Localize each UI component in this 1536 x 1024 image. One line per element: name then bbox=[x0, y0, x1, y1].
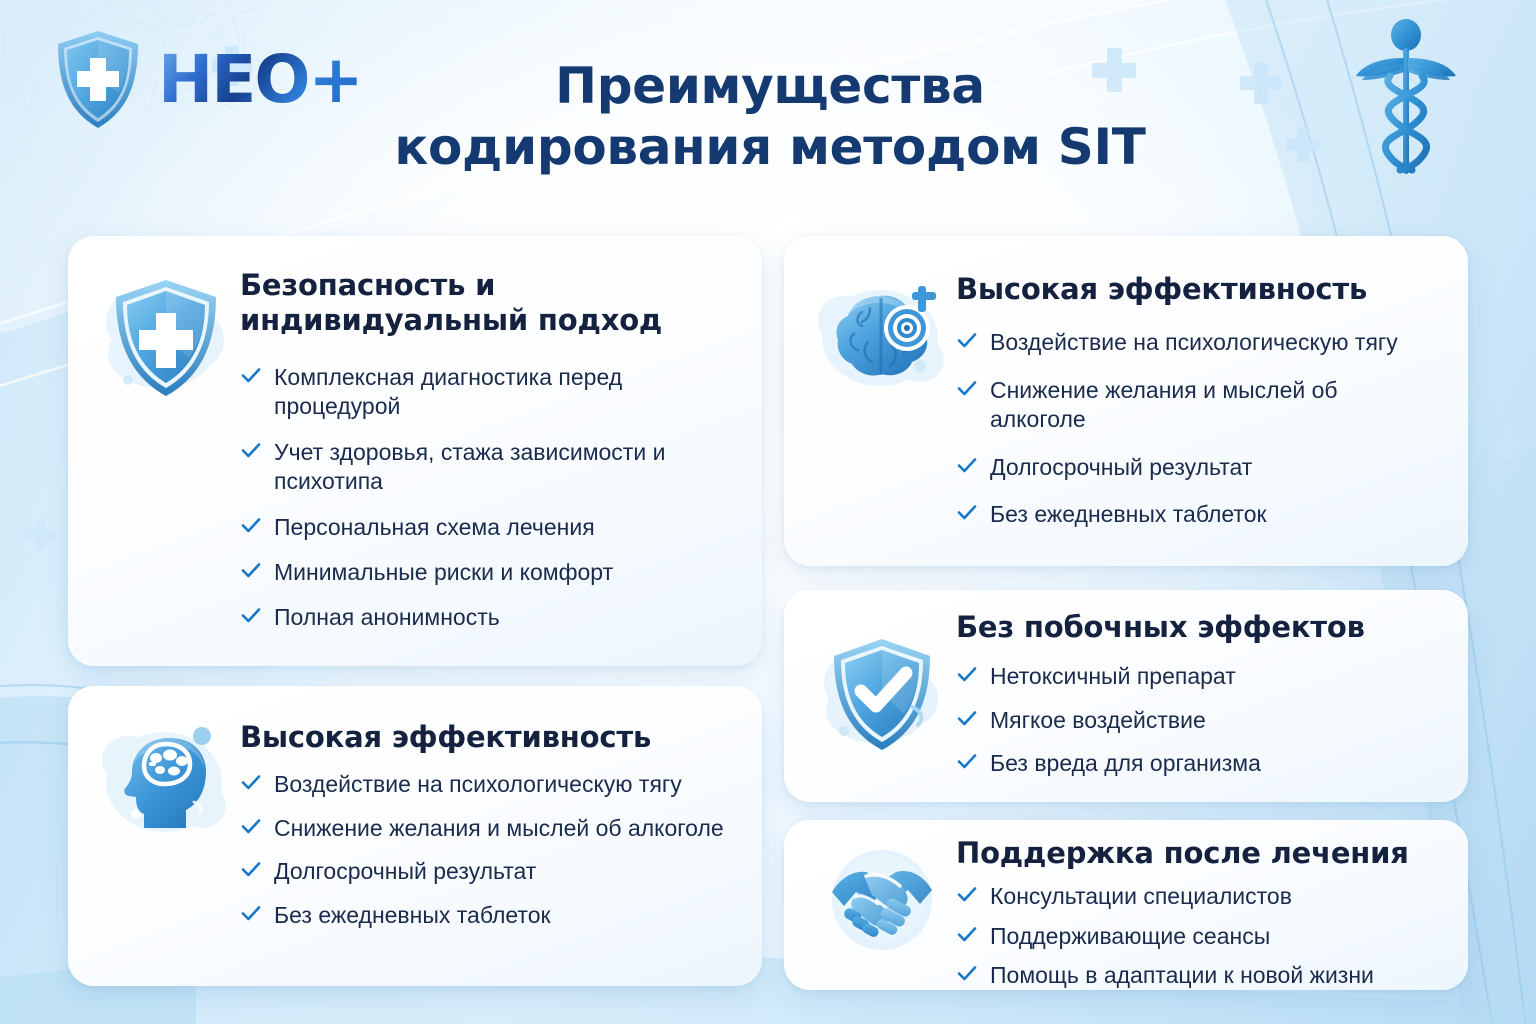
list-item: Без ежедневных таблеток bbox=[956, 491, 1438, 538]
list-item-label: Мягкое воздействие bbox=[990, 706, 1438, 735]
check-icon bbox=[956, 377, 978, 403]
list-item: Помощь в адаптации к новой жизни bbox=[956, 956, 1438, 990]
list-item-label: Без ежедневных таблеток bbox=[990, 500, 1438, 529]
list-item-label: Полная анонимность bbox=[274, 603, 732, 632]
check-icon bbox=[956, 501, 978, 527]
list-item: Нетоксичный препарат bbox=[956, 655, 1438, 698]
list-item: Без вреда для организма bbox=[956, 742, 1438, 785]
list-item: Снижение желания и мыслей об алкоголе bbox=[240, 807, 732, 850]
list-item-label: Воздействие на психологическую тягу bbox=[990, 328, 1438, 357]
list-item: Комплексная диагностика перед процедурой bbox=[240, 355, 732, 430]
check-icon bbox=[956, 454, 978, 480]
list-item: Без ежедневных таблеток bbox=[240, 894, 732, 937]
list-item: Персональная схема лечения bbox=[240, 505, 732, 550]
list-item: Минимальные риски и комфорт bbox=[240, 550, 732, 595]
list-item-label: Комплексная диагностика перед процедурой bbox=[274, 363, 732, 422]
benefit-list: Воздействие на психологическую тягу Сниж… bbox=[956, 319, 1438, 538]
benefit-card-efficiency-left[interactable]: Высокая эффективность Воздействие на пси… bbox=[68, 686, 762, 986]
check-icon bbox=[240, 771, 262, 797]
benefit-list: Нетоксичный препарат Мягкое воздействие … bbox=[956, 655, 1438, 785]
benefit-card-safety[interactable]: Безопасность и индивидуальный подход Ком… bbox=[68, 236, 762, 666]
list-item-label: Помощь в адаптации к новой жизни bbox=[990, 961, 1438, 990]
list-item: Долгосрочный результат bbox=[956, 444, 1438, 491]
card-title: Высокая эффективность bbox=[240, 712, 732, 755]
card-title: Поддержка после лечения bbox=[956, 836, 1438, 871]
head-brain-icon bbox=[98, 714, 234, 850]
check-icon bbox=[240, 364, 262, 390]
shield-check-icon bbox=[818, 629, 946, 757]
check-icon bbox=[956, 750, 978, 776]
handshake-icon bbox=[822, 840, 942, 960]
check-icon bbox=[240, 559, 262, 585]
list-item-label: Снижение желания и мыслей об алкоголе bbox=[274, 814, 732, 843]
list-item: Консультации специалистов bbox=[956, 877, 1438, 916]
list-item-label: Долгосрочный результат bbox=[990, 453, 1438, 482]
list-item: Воздействие на психологическую тягу bbox=[956, 319, 1438, 366]
list-item-label: Поддерживающие сеансы bbox=[990, 922, 1438, 951]
check-icon bbox=[956, 329, 978, 355]
list-item: Мягкое воздействие bbox=[956, 699, 1438, 742]
shield-cross-icon bbox=[98, 268, 234, 404]
list-item: Учет здоровья, стажа зависимости и психо… bbox=[240, 430, 732, 505]
card-icon-container bbox=[808, 836, 956, 964]
list-item: Долгосрочный результат bbox=[240, 850, 732, 893]
list-item: Полная анонимность bbox=[240, 595, 732, 640]
list-item-label: Долгосрочный результат bbox=[274, 857, 732, 886]
check-icon bbox=[956, 962, 978, 988]
check-icon bbox=[956, 883, 978, 909]
card-title: Без побочных эффектов bbox=[956, 610, 1438, 645]
list-item: Снижение желания и мыслей об алкоголе bbox=[956, 367, 1438, 444]
list-item-label: Персональная схема лечения bbox=[274, 513, 732, 542]
list-item-label: Консультации специалистов bbox=[990, 882, 1438, 911]
check-icon bbox=[240, 514, 262, 540]
list-item-label: Минимальные риски и комфорт bbox=[274, 558, 732, 587]
brain-target-icon bbox=[814, 268, 950, 404]
benefit-card-support[interactable]: Поддержка после лечения Консультации спе… bbox=[784, 820, 1468, 990]
card-icon-container bbox=[808, 262, 956, 540]
list-item-label: Воздействие на психологическую тягу bbox=[274, 770, 732, 799]
check-icon bbox=[240, 604, 262, 630]
card-icon-container bbox=[92, 262, 240, 640]
benefit-card-no-side-effects[interactable]: Без побочных эффектов Нетоксичный препар… bbox=[784, 590, 1468, 802]
card-icon-container bbox=[92, 712, 240, 960]
list-item: Поддерживающие сеансы bbox=[956, 917, 1438, 956]
check-icon bbox=[240, 902, 262, 928]
check-icon bbox=[240, 815, 262, 841]
card-title: Высокая эффективность bbox=[956, 262, 1438, 307]
benefit-list: Консультации специалистов Поддерживающие… bbox=[956, 877, 1438, 990]
card-icon-container bbox=[808, 610, 956, 776]
list-item: Воздействие на психологическую тягу bbox=[240, 763, 732, 806]
card-title: Безопасность и индивидуальный подход bbox=[240, 262, 732, 339]
list-item-label: Без вреда для организма bbox=[990, 749, 1438, 778]
benefit-list: Воздействие на психологическую тягу Сниж… bbox=[240, 763, 732, 937]
list-item-label: Учет здоровья, стажа зависимости и психо… bbox=[274, 438, 732, 497]
benefits-board: Безопасность и индивидуальный подход Ком… bbox=[0, 0, 1536, 1024]
list-item-label: Без ежедневных таблеток bbox=[274, 901, 732, 930]
list-item-label: Нетоксичный препарат bbox=[990, 662, 1438, 691]
check-icon bbox=[240, 858, 262, 884]
benefit-card-efficiency-right[interactable]: Высокая эффективность Воздействие на пси… bbox=[784, 236, 1468, 566]
check-icon bbox=[956, 663, 978, 689]
benefit-list: Комплексная диагностика перед процедурой… bbox=[240, 355, 732, 641]
list-item-label: Снижение желания и мыслей об алкоголе bbox=[990, 376, 1438, 435]
check-icon bbox=[956, 707, 978, 733]
check-icon bbox=[240, 439, 262, 465]
check-icon bbox=[956, 923, 978, 949]
